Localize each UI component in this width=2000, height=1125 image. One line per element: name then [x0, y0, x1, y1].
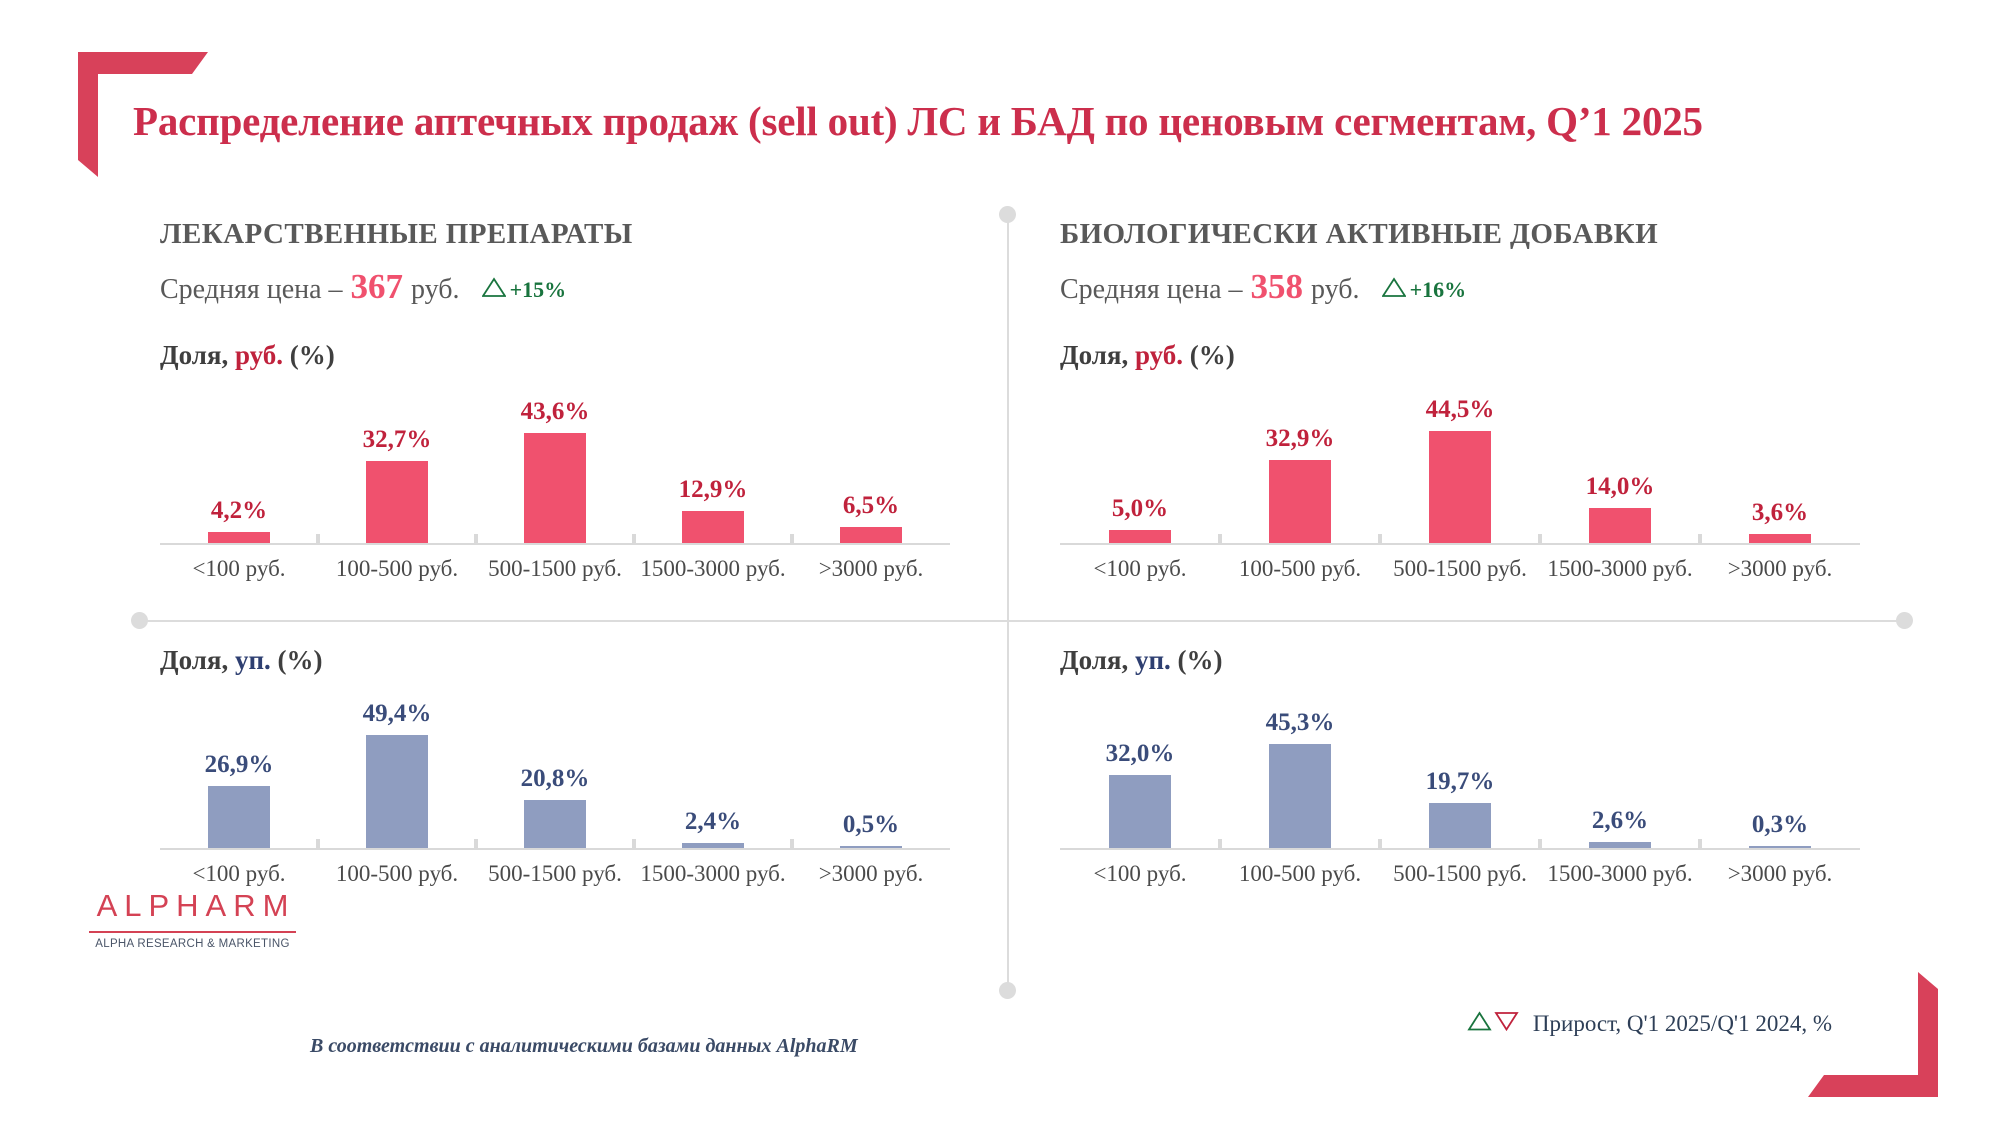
panel-right-average-price: Средняя цена – 358 руб. +16% [1060, 267, 1890, 307]
avg-price-value: 358 [1243, 267, 1312, 307]
x-axis-tick-label: 100-500 руб. [1220, 861, 1380, 887]
chart-title-prefix: Доля, [160, 645, 228, 675]
bar [1749, 534, 1811, 543]
bar-value-label: 20,8% [521, 765, 590, 793]
chart-title-accent: уп. [235, 645, 271, 675]
chart-title: Доля, руб. (%) [160, 340, 950, 371]
bar-column: 44,5% [1380, 375, 1540, 543]
bar-column: 43,6% [476, 375, 634, 543]
bar [1109, 530, 1171, 543]
bar-column: 32,7% [318, 375, 476, 543]
vertical-divider [1007, 218, 1009, 994]
bar-value-label: 26,9% [205, 751, 274, 779]
bar-value-label: 32,9% [1266, 425, 1335, 453]
bar-value-label: 2,6% [1592, 807, 1648, 835]
bar [840, 846, 902, 848]
bar-column: 2,6% [1540, 680, 1700, 848]
chart-title: Доля, уп. (%) [160, 645, 950, 676]
triangle-down-icon [1494, 1010, 1519, 1037]
chart-title-accent: руб. [1135, 340, 1183, 370]
x-axis-tick-label: >3000 руб. [792, 861, 950, 887]
panel-left-average-price: Средняя цена – 367 руб. +15% [160, 267, 980, 307]
avg-price-unit: руб. [1311, 274, 1360, 306]
horizontal-divider [140, 620, 1905, 622]
chart-title-suffix: (%) [1178, 645, 1223, 675]
panel-left-heading: ЛЕКАРСТВЕННЫЕ ПРЕПАРАТЫ [160, 218, 980, 251]
plot-area: 32,0%45,3%19,7%2,6%0,3% [1060, 680, 1860, 850]
bar-value-label: 0,5% [843, 811, 899, 839]
chart-title-suffix: (%) [290, 340, 335, 370]
triangle-up-icon [1382, 274, 1406, 306]
x-axis-tick-label: >3000 руб. [1700, 556, 1860, 582]
bar-column: 4,2% [160, 375, 318, 543]
growth-value: +16% [1410, 277, 1467, 303]
chart-medicines-value-share: Доля, руб. (%) 4,2%32,7%43,6%12,9%6,5% <… [160, 340, 950, 610]
chart-title: Доля, руб. (%) [1060, 340, 1860, 371]
chart-title-prefix: Доля, [1060, 645, 1128, 675]
x-axis-tick-label: 1500-3000 руб. [634, 861, 792, 887]
bar [1429, 803, 1491, 848]
x-axis-labels: <100 руб.100-500 руб.500-1500 руб.1500-3… [1060, 556, 1860, 582]
bar-value-label: 2,4% [685, 808, 741, 836]
bar-column: 26,9% [160, 680, 318, 848]
plot-area: 4,2%32,7%43,6%12,9%6,5% [160, 375, 950, 545]
bar-value-label: 45,3% [1266, 709, 1335, 737]
x-axis-tick-label: <100 руб. [1060, 861, 1220, 887]
x-axis-tick-label: 500-1500 руб. [476, 556, 634, 582]
x-axis-tick-label: 100-500 руб. [318, 556, 476, 582]
bar-column: 19,7% [1380, 680, 1540, 848]
source-footnote: В соответствии с аналитическими базами д… [310, 1035, 858, 1058]
divider-dot-right [1896, 612, 1913, 629]
bar-column: 12,9% [634, 375, 792, 543]
bar [524, 433, 586, 543]
panel-medicines-header: ЛЕКАРСТВЕННЫЕ ПРЕПАРАТЫ Средняя цена – 3… [160, 218, 980, 307]
bar-value-label: 32,0% [1106, 740, 1175, 768]
avg-price-value: 367 [343, 267, 412, 307]
x-axis-labels: <100 руб.100-500 руб.500-1500 руб.1500-3… [1060, 861, 1860, 887]
legend-icons [1467, 1010, 1519, 1037]
x-axis-labels: <100 руб.100-500 руб.500-1500 руб.1500-3… [160, 556, 950, 582]
x-axis-tick-label: 1500-3000 руб. [1540, 861, 1700, 887]
bar-value-label: 43,6% [521, 398, 590, 426]
triangle-up-icon [482, 274, 506, 306]
chart-medicines-unit-share: Доля, уп. (%) 26,9%49,4%20,8%2,4%0,5% <1… [160, 645, 950, 915]
bar-value-label: 14,0% [1586, 473, 1655, 501]
bar-value-label: 6,5% [843, 492, 899, 520]
bar-column: 45,3% [1220, 680, 1380, 848]
triangle-up-icon [1467, 1010, 1492, 1037]
plot-area: 26,9%49,4%20,8%2,4%0,5% [160, 680, 950, 850]
bar-value-label: 44,5% [1426, 396, 1495, 424]
panel-right-growth: +16% [1382, 274, 1467, 306]
bar-value-label: 12,9% [679, 476, 748, 504]
bar [208, 532, 270, 543]
alpharm-logo: ALPHARM ALPHA RESEARCH & MARKETING [85, 888, 300, 950]
slide-root: Распределение аптечных продаж (sell out)… [0, 0, 2000, 1125]
divider-dot-top [999, 206, 1016, 223]
bar [1429, 431, 1491, 543]
bar [840, 527, 902, 543]
avg-price-unit: руб. [411, 274, 460, 306]
x-axis-tick-label: >3000 руб. [792, 556, 950, 582]
bar-column: 32,9% [1220, 375, 1380, 543]
bar-value-label: 0,3% [1752, 811, 1808, 839]
bar-column: 0,5% [792, 680, 950, 848]
logo-divider [89, 931, 296, 933]
chart-title-suffix: (%) [1190, 340, 1235, 370]
panel-right-heading: БИОЛОГИЧЕСКИ АКТИВНЫЕ ДОБАВКИ [1060, 218, 1890, 251]
x-axis-tick-label: 100-500 руб. [318, 861, 476, 887]
chart-title-suffix: (%) [278, 645, 323, 675]
x-axis-tick-label: <100 руб. [1060, 556, 1220, 582]
logo-tagline: ALPHA RESEARCH & MARKETING [85, 938, 300, 950]
bar-column: 6,5% [792, 375, 950, 543]
divider-dot-left [131, 612, 148, 629]
page-title: Распределение аптечных продаж (sell out)… [133, 96, 1833, 146]
x-axis-tick-label: 100-500 руб. [1220, 556, 1380, 582]
legend: Прирост, Q'1 2025/Q'1 2024, % [1467, 1010, 1832, 1037]
chart-title-accent: уп. [1135, 645, 1171, 675]
x-axis-tick-label: <100 руб. [160, 556, 318, 582]
bar [682, 843, 744, 848]
bar-value-label: 19,7% [1426, 768, 1495, 796]
chart-supplements-unit-share: Доля, уп. (%) 32,0%45,3%19,7%2,6%0,3% <1… [1060, 645, 1860, 915]
logo-wordmark: ALPHARM [85, 888, 300, 924]
avg-price-label: Средняя цена – [1060, 274, 1243, 306]
bar-column: 2,4% [634, 680, 792, 848]
bar-value-label: 5,0% [1112, 495, 1168, 523]
bar-column: 0,3% [1700, 680, 1860, 848]
chart-title: Доля, уп. (%) [1060, 645, 1860, 676]
chart-title-prefix: Доля, [160, 340, 228, 370]
bar-value-label: 49,4% [363, 700, 432, 728]
bar-column: 32,0% [1060, 680, 1220, 848]
x-axis-tick-label: 1500-3000 руб. [634, 556, 792, 582]
bar [1269, 460, 1331, 543]
growth-value: +15% [510, 277, 567, 303]
x-axis-tick-label: 500-1500 руб. [476, 861, 634, 887]
bar-column: 5,0% [1060, 375, 1220, 543]
x-axis-tick-label: 500-1500 руб. [1380, 556, 1540, 582]
bar-column: 49,4% [318, 680, 476, 848]
divider-dot-bottom [999, 982, 1016, 999]
bar [524, 800, 586, 848]
plot-area: 5,0%32,9%44,5%14,0%3,6% [1060, 375, 1860, 545]
x-axis-labels: <100 руб.100-500 руб.500-1500 руб.1500-3… [160, 861, 950, 887]
bar [1589, 842, 1651, 848]
bar [1269, 744, 1331, 848]
bar [682, 511, 744, 544]
bar-column: 3,6% [1700, 375, 1860, 543]
x-axis-tick-label: <100 руб. [160, 861, 318, 887]
bar [208, 786, 270, 848]
bar-column: 20,8% [476, 680, 634, 848]
x-axis-tick-label: 500-1500 руб. [1380, 861, 1540, 887]
bar [366, 735, 428, 848]
panel-supplements-header: БИОЛОГИЧЕСКИ АКТИВНЫЕ ДОБАВКИ Средняя це… [1060, 218, 1890, 307]
panel-left-growth: +15% [482, 274, 567, 306]
bar [1589, 508, 1651, 543]
chart-supplements-value-share: Доля, руб. (%) 5,0%32,9%44,5%14,0%3,6% <… [1060, 340, 1860, 610]
bar-value-label: 4,2% [211, 497, 267, 525]
avg-price-label: Средняя цена – [160, 274, 343, 306]
bar [1749, 846, 1811, 848]
bar-value-label: 3,6% [1752, 499, 1808, 527]
x-axis-tick-label: 1500-3000 руб. [1540, 556, 1700, 582]
bar-value-label: 32,7% [363, 426, 432, 454]
legend-label: Прирост, Q'1 2025/Q'1 2024, % [1533, 1011, 1832, 1037]
x-axis-tick-label: >3000 руб. [1700, 861, 1860, 887]
bar-column: 14,0% [1540, 375, 1700, 543]
bar [366, 461, 428, 543]
chart-title-prefix: Доля, [1060, 340, 1128, 370]
chart-title-accent: руб. [235, 340, 283, 370]
bar [1109, 775, 1171, 848]
